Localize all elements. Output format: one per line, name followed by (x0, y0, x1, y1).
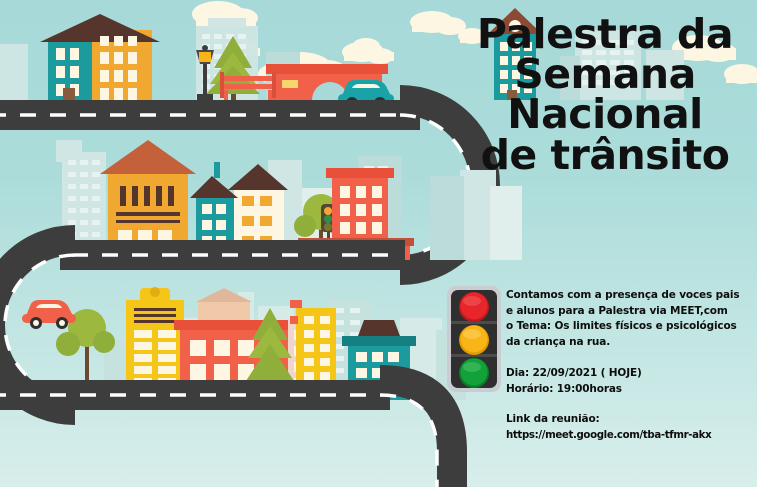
event-date: Dia: 22/09/2021 ( HOJE) (506, 366, 754, 382)
yellow-lamp (459, 325, 489, 355)
meeting-link-label: Link da reunião: (506, 412, 754, 428)
title-line-2: Semana (455, 54, 755, 94)
title-line-4: de trânsito (455, 135, 755, 175)
traffic-light (447, 286, 501, 392)
spacer (506, 397, 754, 412)
poster-title: Palestra da Semana Nacional de trânsito (455, 14, 755, 175)
title-line-3: Nacional (455, 94, 755, 134)
meeting-link-url[interactable]: https://meet.google.com/tba-tfmr-akx (506, 428, 754, 444)
copy-line-3: o Tema: Os limites físicos e psicológico… (506, 319, 754, 335)
event-time: Horário: 19:00horas (506, 382, 754, 398)
green-lamp (459, 358, 489, 388)
poster-copy: Contamos com a presença de voces pais e … (506, 288, 754, 443)
poster-canvas: Palestra da Semana Nacional de trânsito … (0, 0, 757, 487)
title-line-1: Palestra da (455, 14, 755, 54)
red-lamp (459, 292, 489, 322)
copy-line-2: e alunos para a Palestra via MEET,com (506, 304, 754, 320)
copy-line-4: da criança na rua. (506, 335, 754, 351)
spacer (506, 350, 754, 366)
copy-line-1: Contamos com a presença de voces pais (506, 288, 754, 304)
